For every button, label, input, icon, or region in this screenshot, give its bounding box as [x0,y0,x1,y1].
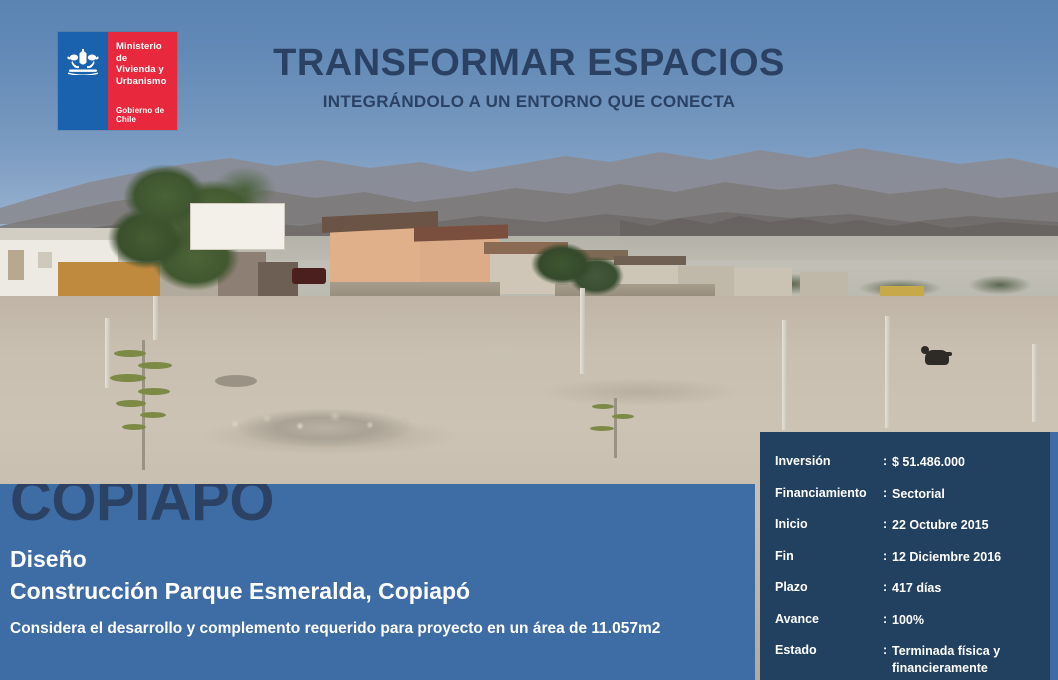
info-value: 22 Octubre 2015 [892,517,989,534]
dog [925,350,949,365]
info-label: Plazo [775,580,883,597]
info-label: Avance [775,612,883,629]
presentation-slide: Ministerio de Vivienda y Urbanismo Gobie… [0,0,1058,680]
panel-edge-strip [1050,432,1058,680]
building [800,272,848,296]
info-colon: : [883,549,892,566]
info-colon: : [883,643,892,677]
project-caption-bar: COPIAPÓ Diseño Construcción Parque Esmer… [0,484,755,680]
marker-post [580,288,585,374]
info-row: Estado:Terminada física y financierament… [775,643,1042,677]
building [734,268,792,296]
info-value: 100% [892,612,924,629]
info-row-list: Inversión:$ 51.486.000Financiamiento:Sec… [775,454,1042,680]
marker-post [885,316,890,428]
pit [215,375,257,387]
parked-car [292,268,326,284]
logo-blue-panel [58,32,108,130]
marker-post [153,296,158,340]
info-colon: : [883,486,892,503]
chile-coat-of-arms-icon [66,49,100,75]
info-label: Inicio [775,517,883,534]
project-stage: Diseño [10,546,87,572]
door [8,250,24,280]
info-label: Financiamiento [775,486,883,503]
info-row: Fin:12 Diciembre 2016 [775,549,1042,566]
marker-post [1032,344,1037,422]
logo-ministry-text: Ministerio de Vivienda y Urbanismo [116,41,173,87]
info-label: Fin [775,549,883,566]
sapling [108,340,178,470]
info-colon: : [883,517,892,534]
info-value: Terminada física y financieramente [892,643,1000,677]
info-row: Inversión:$ 51.486.000 [775,454,1042,471]
info-value: 12 Diciembre 2016 [892,549,1001,566]
marker-post [782,320,787,430]
info-label: Estado [775,643,883,677]
logo-government-text: Gobierno de Chile [116,106,177,124]
city-name: COPIAPÓ [10,484,274,530]
project-name: Construcción Parque Esmeralda, Copiapó [10,578,470,604]
window [38,252,52,268]
project-info-panel: Inversión:$ 51.486.000Financiamiento:Sec… [760,432,1050,680]
project-description: Considera el desarrollo y complemento re… [10,616,745,641]
info-row: Plazo:417 días [775,580,1042,597]
info-label: Inversión [775,454,883,471]
info-colon: : [883,580,892,597]
signboard-legs [190,203,285,250]
logo-red-panel: Ministerio de Vivienda y Urbanismo Gobie… [108,32,177,130]
info-row: Avance:100% [775,612,1042,629]
info-value: Sectorial [892,486,945,503]
ministry-logo: Ministerio de Vivienda y Urbanismo Gobie… [58,32,177,130]
info-value: 417 días [892,580,941,597]
info-colon: : [883,612,892,629]
info-value: $ 51.486.000 [892,454,965,471]
info-row: Inicio:22 Octubre 2015 [775,517,1042,534]
rubble-mound [205,394,445,448]
info-row: Financiamiento:Sectorial [775,486,1042,503]
sapling [580,398,650,458]
info-colon: : [883,454,892,471]
